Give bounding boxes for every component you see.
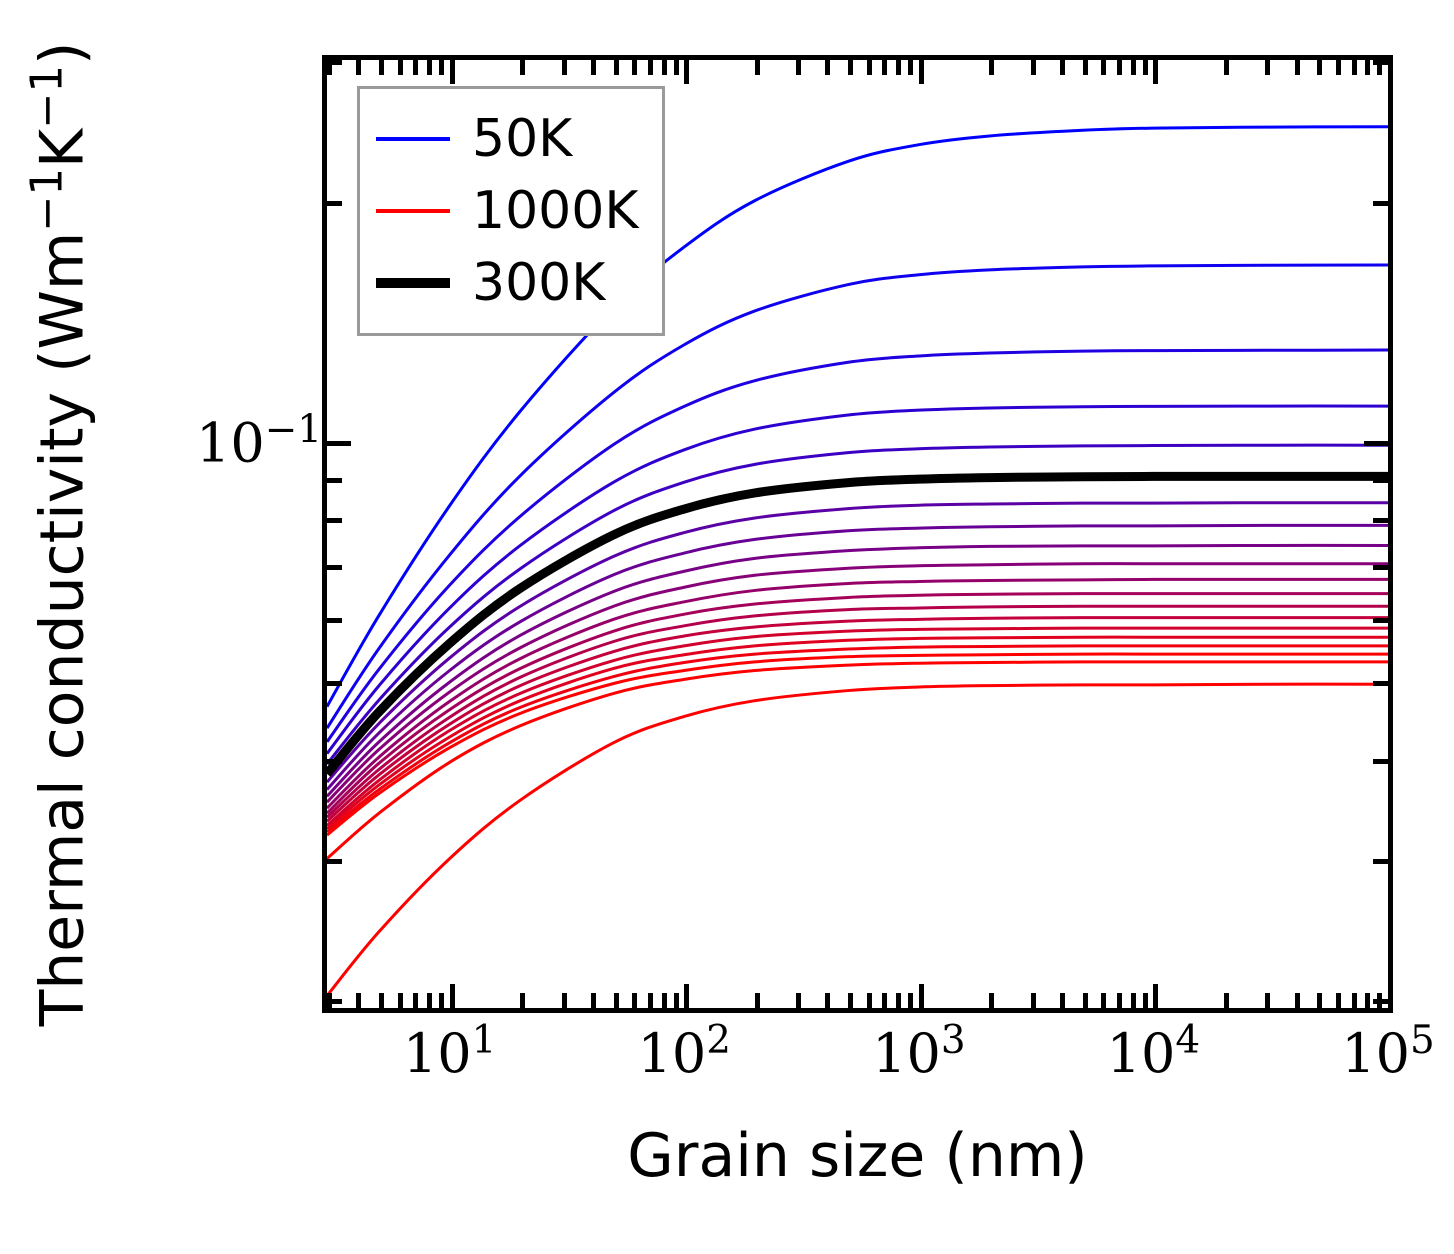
y-tick-right-minor	[1373, 859, 1388, 864]
y-tick-minor	[327, 759, 342, 764]
legend-label: 50K	[472, 113, 572, 165]
x-tick-label-1e1: 101	[403, 1022, 496, 1081]
x-tick-minor	[848, 993, 853, 1008]
y-tick-right-minor	[1373, 60, 1388, 65]
x-tick-top-major-1e4	[1153, 60, 1158, 84]
x-tick-top-major-1e3	[919, 60, 924, 84]
y-tick-major-1e-1	[327, 441, 351, 446]
y-tick-right-minor	[1373, 518, 1388, 523]
x-tick-top-minor	[1317, 60, 1322, 75]
x-tick-minor	[989, 993, 994, 1008]
legend-label: 300K	[472, 257, 605, 309]
y-tick-right-minor	[1373, 681, 1388, 686]
x-tick-top-minor	[413, 60, 418, 75]
x-tick-major-1e1	[450, 984, 455, 1008]
x-tick-top-minor	[882, 60, 887, 75]
x-tick-top-minor	[427, 60, 432, 75]
x-tick-minor	[1083, 993, 1088, 1008]
x-tick-top-minor	[1336, 60, 1341, 75]
x-tick-label-1e3: 103	[872, 1022, 965, 1081]
x-tick-minor	[1336, 993, 1341, 1008]
x-tick-minor	[825, 993, 830, 1008]
x-tick-label-1e5: 105	[1341, 1022, 1434, 1081]
y-tick-right-minor	[1373, 201, 1388, 206]
x-tick-top-major-1e5	[1388, 60, 1393, 84]
y-tick-minor	[327, 478, 342, 483]
x-tick-top-minor	[1143, 60, 1148, 75]
y-tick-right-minor	[1373, 759, 1388, 764]
x-tick-minor	[1224, 993, 1229, 1008]
x-tick-minor	[439, 993, 444, 1008]
x-tick-minor	[1352, 993, 1357, 1008]
x-tick-minor	[591, 993, 596, 1008]
x-tick-top-minor	[1224, 60, 1229, 75]
x-tick-minor	[1131, 993, 1136, 1008]
x-tick-minor	[427, 993, 432, 1008]
x-tick-minor	[662, 993, 667, 1008]
y-tick-right-minor	[1373, 478, 1388, 483]
y-tick-right-minor	[1373, 565, 1388, 570]
x-tick-minor	[908, 993, 913, 1008]
x-tick-top-minor	[1117, 60, 1122, 75]
x-tick-top-minor	[632, 60, 637, 75]
y-axis-title-wrapper: Thermal conductivity (Wm−1K−1)	[0, 0, 120, 1068]
x-tick-top-minor	[848, 60, 853, 75]
x-tick-top-minor	[439, 60, 444, 75]
x-tick-top-minor	[648, 60, 653, 75]
x-tick-minor	[648, 993, 653, 1008]
x-tick-top-minor	[356, 60, 361, 75]
x-tick-major-1e2	[684, 984, 689, 1008]
x-tick-minor	[1060, 993, 1065, 1008]
x-tick-minor	[755, 993, 760, 1008]
curve-850k	[327, 646, 1388, 832]
curve-1000k	[327, 684, 1388, 996]
x-tick-minor	[1365, 993, 1370, 1008]
y-tick-minor	[327, 859, 342, 864]
y-tick-label-1e-1: 10−1	[196, 412, 322, 471]
legend-line-icon	[376, 209, 450, 213]
x-tick-top-minor	[1060, 60, 1065, 75]
x-tick-top-minor	[1352, 60, 1357, 75]
x-tick-major-1e5	[1388, 984, 1393, 1008]
legend-entry-1000k: 1000K	[376, 175, 638, 247]
x-tick-top-minor	[1131, 60, 1136, 75]
x-tick-top-minor	[662, 60, 667, 75]
x-tick-top-minor	[614, 60, 619, 75]
x-tick-top-minor	[674, 60, 679, 75]
y-tick-minor	[327, 681, 342, 686]
figure-canvas: Thermal conductivity (Wm−1K−1) 50K1000K3…	[0, 0, 1454, 1254]
x-tick-top-major-1e1	[450, 60, 455, 84]
plot-area: 50K1000K300K	[322, 55, 1393, 1013]
x-tick-minor	[1295, 993, 1300, 1008]
y-tick-right-minor	[1373, 999, 1388, 1004]
x-tick-minor	[1317, 993, 1322, 1008]
y-tick-minor	[327, 201, 342, 206]
x-tick-major-1e3	[919, 984, 924, 1008]
legend-entry-50k: 50K	[376, 103, 638, 175]
x-tick-top-minor	[591, 60, 596, 75]
x-tick-top-minor	[562, 60, 567, 75]
x-tick-top-minor	[1265, 60, 1270, 75]
x-tick-minor	[674, 993, 679, 1008]
y-tick-minor	[327, 60, 342, 65]
x-tick-minor	[632, 993, 637, 1008]
x-tick-top-minor	[755, 60, 760, 75]
x-tick-top-minor	[825, 60, 830, 75]
legend-line-icon	[376, 137, 450, 141]
x-tick-label-1e4: 104	[1107, 1022, 1200, 1081]
y-tick-minor	[327, 618, 342, 623]
x-tick-minor	[520, 993, 525, 1008]
legend-entry-300k: 300K	[376, 247, 638, 319]
x-tick-minor	[562, 993, 567, 1008]
x-tick-minor	[867, 993, 872, 1008]
legend-line-icon	[376, 278, 450, 288]
x-tick-minor	[1265, 993, 1270, 1008]
x-tick-top-minor	[1101, 60, 1106, 75]
x-tick-top-minor	[379, 60, 384, 75]
x-tick-minor	[882, 993, 887, 1008]
y-tick-right-minor	[1373, 618, 1388, 623]
x-tick-top-minor	[796, 60, 801, 75]
x-tick-minor	[379, 993, 384, 1008]
x-tick-top-minor	[1083, 60, 1088, 75]
x-tick-minor	[1143, 993, 1148, 1008]
x-tick-minor	[896, 993, 901, 1008]
x-tick-top-minor	[1031, 60, 1036, 75]
x-tick-major-1e4	[1153, 984, 1158, 1008]
x-tick-top-minor	[989, 60, 994, 75]
y-tick-minor	[327, 518, 342, 523]
x-tick-label-1e2: 102	[638, 1022, 731, 1081]
x-tick-minor	[614, 993, 619, 1008]
x-tick-top-major-1e2	[684, 60, 689, 84]
x-tick-minor	[398, 993, 403, 1008]
x-tick-top-minor	[896, 60, 901, 75]
legend-box: 50K1000K300K	[357, 86, 665, 336]
y-tick-minor	[327, 565, 342, 570]
x-tick-top-minor	[908, 60, 913, 75]
curve-900k	[327, 654, 1388, 835]
x-tick-minor	[796, 993, 801, 1008]
x-tick-top-minor	[398, 60, 403, 75]
y-tick-minor	[327, 999, 342, 1004]
x-tick-top-minor	[520, 60, 525, 75]
y-axis-title: Thermal conductivity (Wm−1K−1)	[26, 42, 95, 1027]
x-tick-minor	[1101, 993, 1106, 1008]
x-tick-minor	[356, 993, 361, 1008]
legend-label: 1000K	[472, 185, 638, 237]
x-tick-top-minor	[867, 60, 872, 75]
x-tick-top-minor	[1365, 60, 1370, 75]
x-tick-minor	[413, 993, 418, 1008]
y-tick-right-major-1e-1	[1364, 441, 1388, 446]
x-tick-minor	[1031, 993, 1036, 1008]
x-axis-title: Grain size (nm)	[322, 1125, 1393, 1188]
x-tick-minor	[1117, 993, 1122, 1008]
x-tick-top-minor	[1295, 60, 1300, 75]
